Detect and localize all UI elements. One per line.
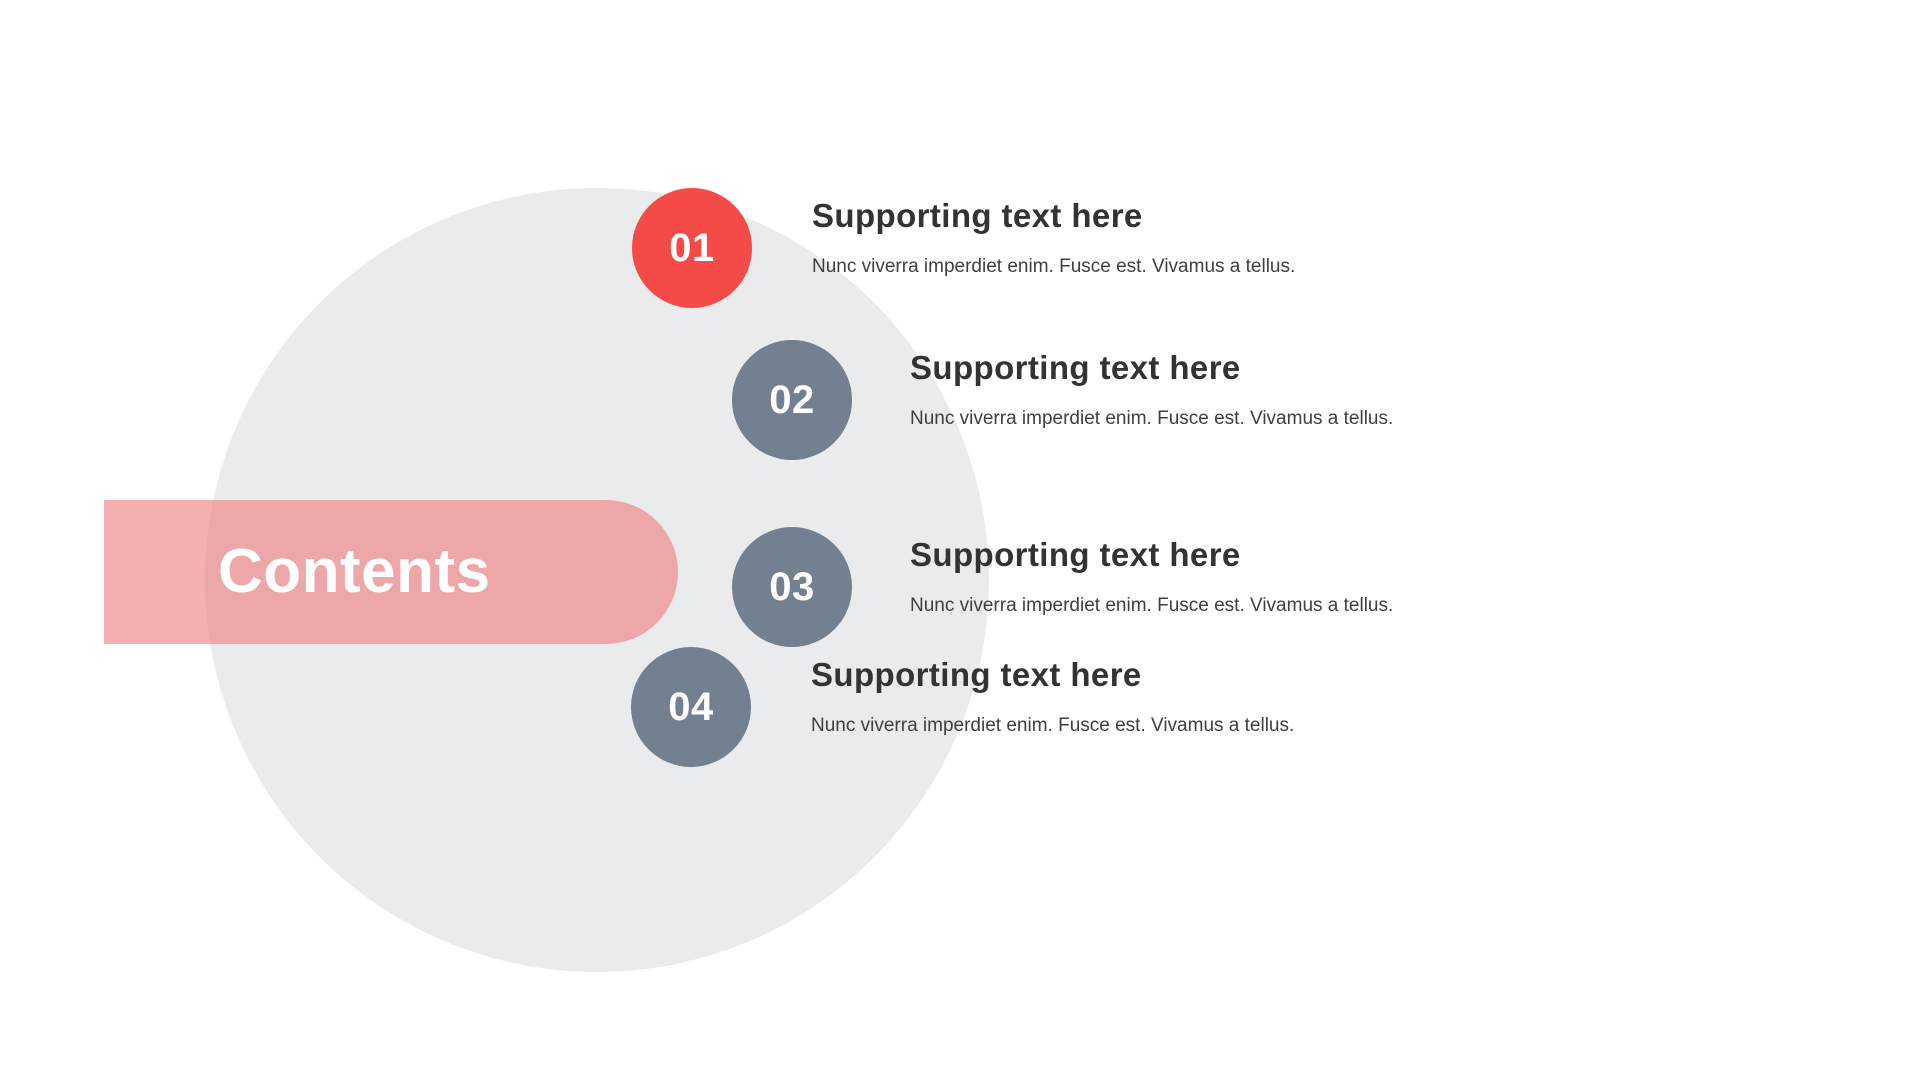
item-heading: Supporting text here bbox=[811, 657, 1294, 693]
list-item[interactable]: 01 Supporting text here Nunc viverra imp… bbox=[632, 188, 1295, 308]
item-number-label: 01 bbox=[669, 228, 715, 268]
item-number-badge-04[interactable]: 04 bbox=[631, 647, 751, 767]
item-number-badge-02[interactable]: 02 bbox=[732, 340, 852, 460]
item-number-label: 02 bbox=[769, 380, 815, 420]
item-description: Nunc viverra imperdiet enim. Fusce est. … bbox=[812, 256, 1295, 279]
item-description: Nunc viverra imperdiet enim. Fusce est. … bbox=[910, 408, 1393, 431]
item-description: Nunc viverra imperdiet enim. Fusce est. … bbox=[910, 595, 1393, 618]
item-number-label: 04 bbox=[668, 687, 714, 727]
item-number-badge-03[interactable]: 03 bbox=[732, 527, 852, 647]
item-description: Nunc viverra imperdiet enim. Fusce est. … bbox=[811, 715, 1294, 738]
item-text-block: Supporting text here Nunc viverra imperd… bbox=[812, 188, 1295, 279]
page-title: Contents bbox=[218, 541, 491, 603]
list-item[interactable]: 02 Supporting text here Nunc viverra imp… bbox=[732, 340, 1393, 460]
item-heading: Supporting text here bbox=[910, 350, 1393, 386]
item-text-block: Supporting text here Nunc viverra imperd… bbox=[910, 527, 1393, 618]
contents-banner: Contents bbox=[104, 500, 678, 644]
item-number-label: 03 bbox=[769, 567, 815, 607]
item-number-badge-01[interactable]: 01 bbox=[632, 188, 752, 308]
item-text-block: Supporting text here Nunc viverra imperd… bbox=[910, 340, 1393, 431]
list-item[interactable]: 03 Supporting text here Nunc viverra imp… bbox=[732, 527, 1393, 647]
contents-slide: Contents 01 Supporting text here Nunc vi… bbox=[0, 0, 1920, 1080]
list-item[interactable]: 04 Supporting text here Nunc viverra imp… bbox=[631, 647, 1294, 767]
item-text-block: Supporting text here Nunc viverra imperd… bbox=[811, 647, 1294, 738]
item-heading: Supporting text here bbox=[910, 537, 1393, 573]
item-heading: Supporting text here bbox=[812, 198, 1295, 234]
